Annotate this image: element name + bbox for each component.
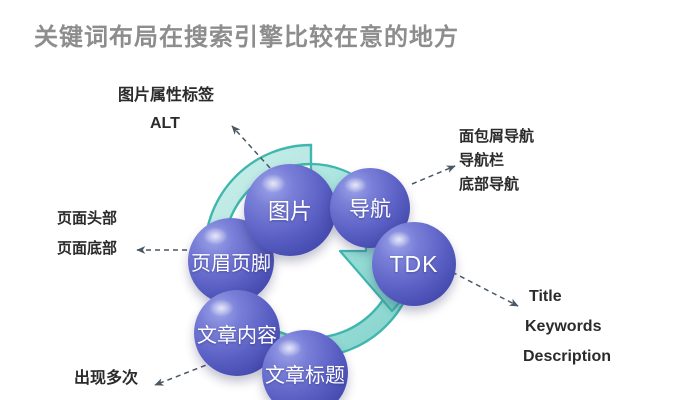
- node-label: 文章内容: [197, 319, 277, 348]
- callout-line: 页面底部: [57, 241, 117, 256]
- node-image[interactable]: 图片: [244, 164, 336, 256]
- callout-image-alt: 图片属性标签 ALT: [118, 88, 214, 132]
- callout-navigation: 面包屑导航 导航栏 底部导航: [459, 129, 534, 192]
- node-tdk[interactable]: TDK: [372, 222, 456, 306]
- callout-meta-tags: Title Keywords Description: [529, 289, 611, 365]
- connector-frequency: [155, 362, 214, 385]
- diagram-canvas: 关键词布局在搜索引擎比较在意的地方: [0, 0, 675, 400]
- callout-line: Keywords: [525, 319, 611, 335]
- connector-meta: [452, 272, 518, 306]
- node-label: 文章标题: [265, 359, 345, 388]
- callout-line: 导航栏: [459, 153, 534, 168]
- callout-line: 出现多次: [74, 371, 138, 387]
- callout-line: ALT: [150, 116, 214, 132]
- callout-line: Title: [529, 289, 611, 305]
- callout-page-parts: 页面头部 页面底部: [57, 211, 117, 256]
- callout-line: Description: [523, 349, 611, 365]
- node-label: TDK: [390, 251, 439, 278]
- node-label: 页眉页脚: [191, 247, 271, 276]
- node-label: 图片: [268, 194, 312, 226]
- callout-line: 图片属性标签: [118, 88, 214, 104]
- callout-frequency: 出现多次: [74, 371, 138, 387]
- callout-line: 页面头部: [57, 211, 117, 226]
- callout-line: 面包屑导航: [459, 129, 534, 144]
- connector-nav: [412, 166, 455, 184]
- callout-line: 底部导航: [459, 177, 534, 192]
- node-label: 导航: [349, 193, 391, 223]
